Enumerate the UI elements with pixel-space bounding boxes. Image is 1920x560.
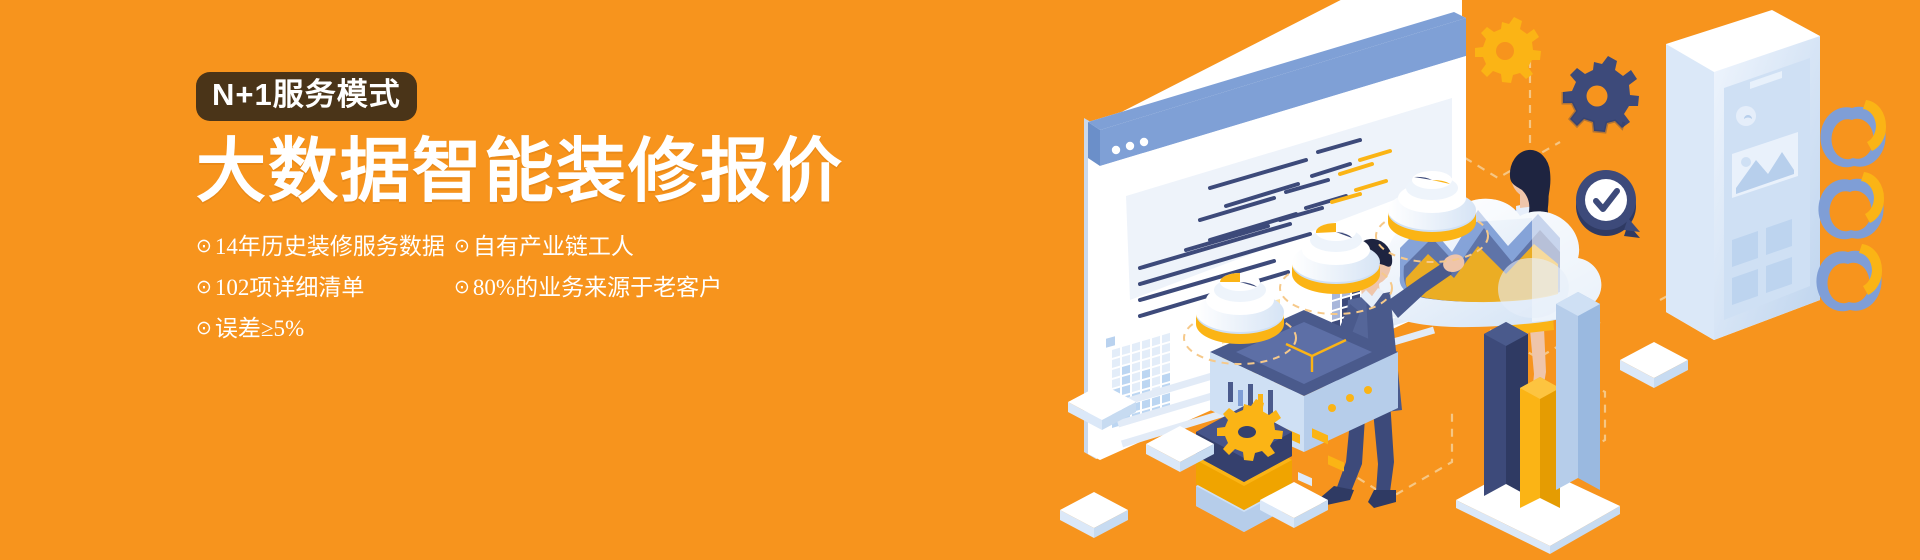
gear-yellow-icon [1475,17,1541,83]
banner-headline: 大数据智能装修报价 [196,135,836,209]
feature-bullets: ⊙ 14年历史装修服务数据 ⊙ 102项详细清单 ⊙ 误差≥5% ⊙ 自有产业链… [196,235,836,358]
bullet-item: ⊙ 自有产业链工人 [454,235,754,258]
ring-shapes-icon [1816,100,1886,311]
banner-text-block: N+1服务模式 大数据智能装修报价 ⊙ 14年历史装修服务数据 ⊙ 102项详细… [196,72,836,358]
bullet-label: 80%的业务来源于老客户 [473,276,722,299]
bullet-label: 误差≥5% [215,317,304,340]
service-model-badge: N+1服务模式 [196,72,417,121]
bullet-label: 14年历史装修服务数据 [215,235,445,258]
bullet-item: ⊙ 80%的业务来源于老客户 [454,276,754,299]
bullet-item: ⊙ 误差≥5% [196,317,454,340]
smartphone [1666,0,1820,340]
promo-banner: N+1服务模式 大数据智能装修报价 ⊙ 14年历史装修服务数据 ⊙ 102项详细… [0,0,1920,560]
bullet-dot-icon: ⊙ [196,278,212,297]
bullet-dot-icon: ⊙ [454,278,470,297]
bullet-dot-icon: ⊙ [454,237,470,256]
bullet-item: ⊙ 14年历史装修服务数据 [196,235,454,258]
bullet-label: 102项详细清单 [215,276,365,299]
feature-bullets-right-column: ⊙ 自有产业链工人 ⊙ 80%的业务来源于老客户 [454,235,754,317]
feature-bullets-left-column: ⊙ 14年历史装修服务数据 ⊙ 102项详细清单 ⊙ 误差≥5% [196,235,454,358]
gear-navy-icon [1563,56,1639,132]
bullet-item: ⊙ 102项详细清单 [196,276,454,299]
checkmark-badge-icon [1576,170,1640,238]
bullet-dot-icon: ⊙ [196,319,212,338]
bullet-dot-icon: ⊙ [196,237,212,256]
isometric-big-data-illustration [1060,0,1920,560]
bullet-label: 自有产业链工人 [473,235,634,258]
